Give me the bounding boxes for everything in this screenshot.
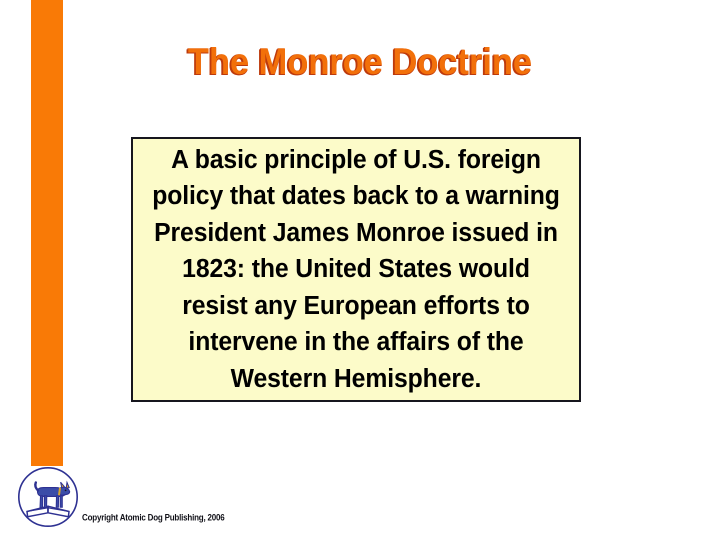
dog-on-book-icon	[17, 466, 79, 528]
page-title: The Monroe Doctrine	[25, 40, 695, 84]
copyright-notice: Copyright Atomic Dog Publishing, 2006	[82, 512, 225, 522]
atomic-dog-publishing-logo	[17, 466, 79, 528]
body-paragraph: A basic principle of U.S. foreign policy…	[151, 142, 560, 398]
slide-canvas: The Monroe Doctrine A basic principle of…	[0, 0, 720, 540]
content-text-box: A basic principle of U.S. foreign policy…	[131, 137, 581, 402]
